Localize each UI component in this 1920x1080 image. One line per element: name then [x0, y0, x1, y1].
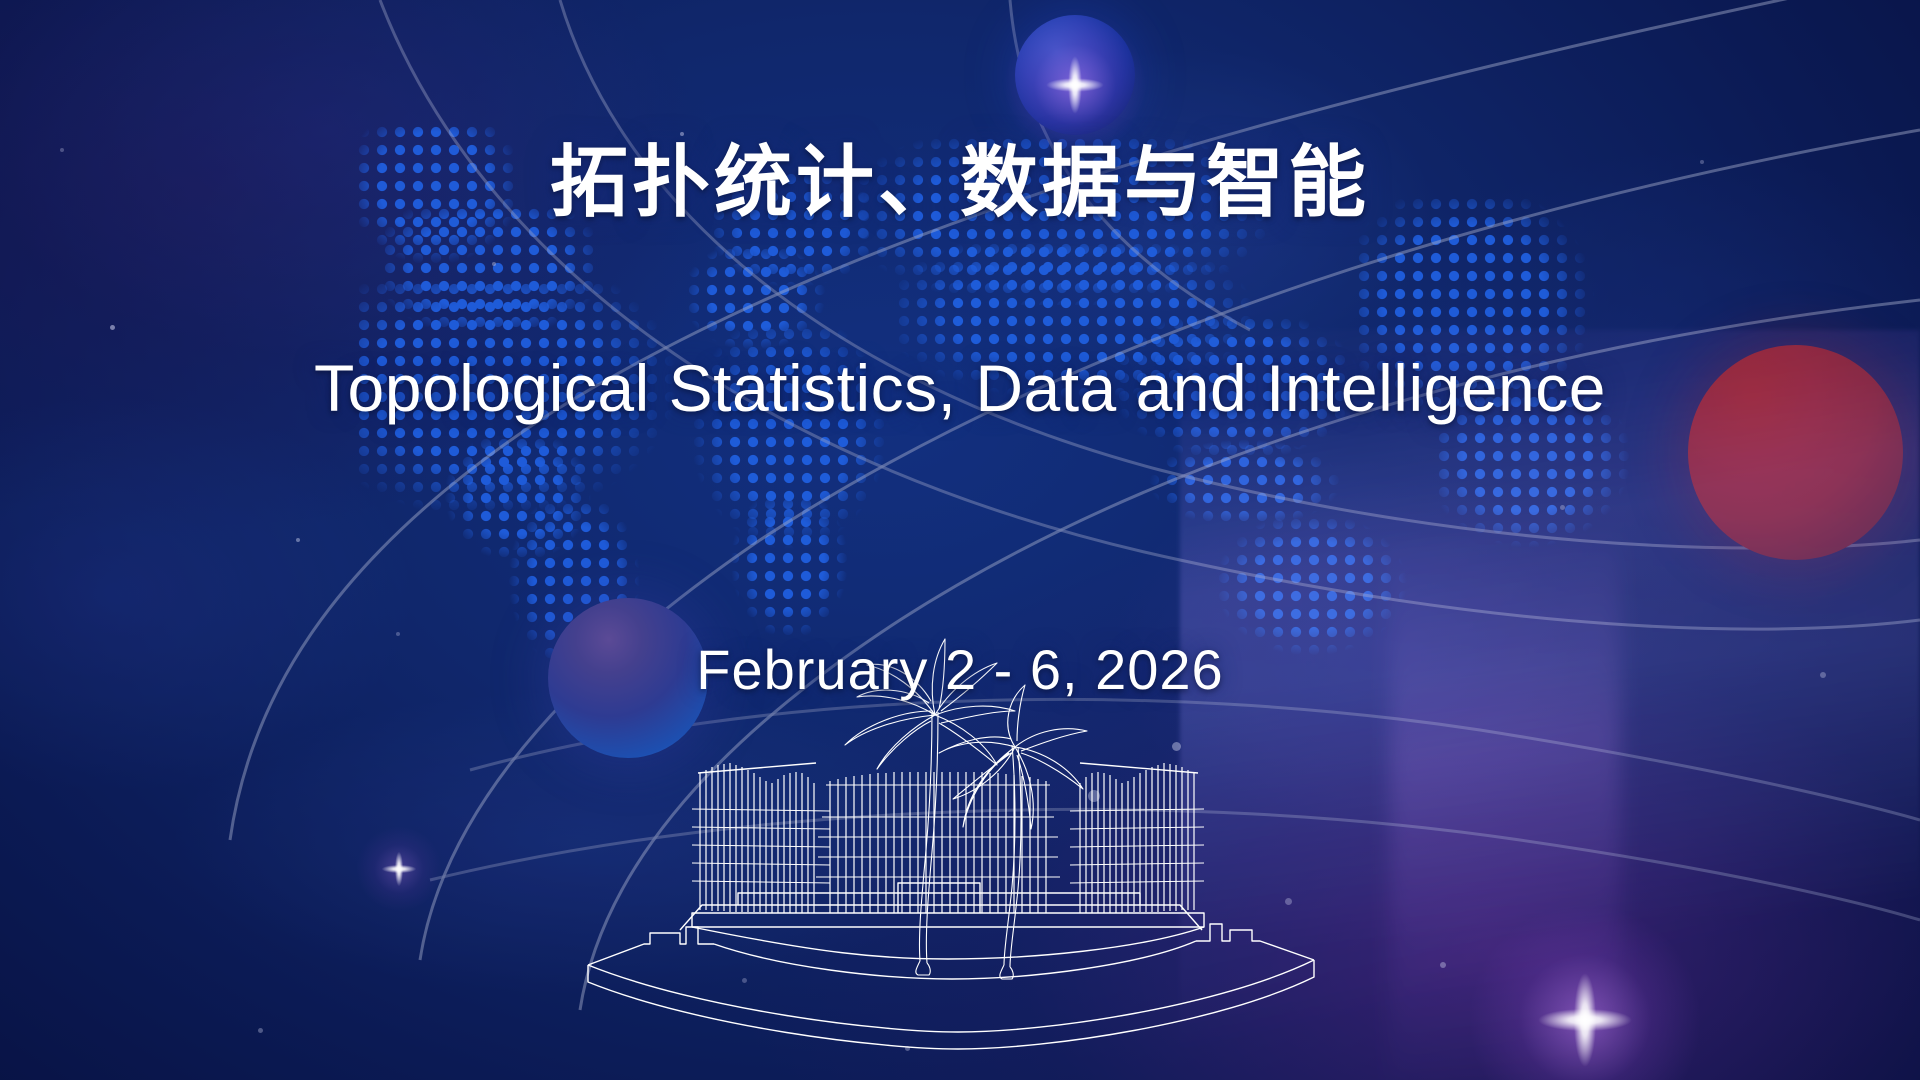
purple-light-beam — [1390, 540, 1620, 1080]
conference-poster: 拓扑统计、数据与智能 Topological Statistics, Data … — [0, 0, 1920, 1080]
poster-title-english: Topological Statistics, Data and Intelli… — [0, 350, 1920, 426]
sparkle-star-icon — [1035, 45, 1115, 125]
event-date: February 2 - 6, 2026 — [0, 637, 1920, 702]
blue-planet-sphere — [1015, 15, 1135, 135]
conference-building — [692, 763, 1204, 959]
poster-title-chinese: 拓扑统计、数据与智能 — [0, 120, 1920, 232]
landmark-illustration — [580, 715, 1320, 1080]
plaza-platform — [588, 893, 1314, 1049]
aurora-light-rays — [1180, 330, 1920, 1080]
sparkle-star-icon — [375, 845, 423, 893]
sparkle-star-icon — [1520, 955, 1650, 1080]
